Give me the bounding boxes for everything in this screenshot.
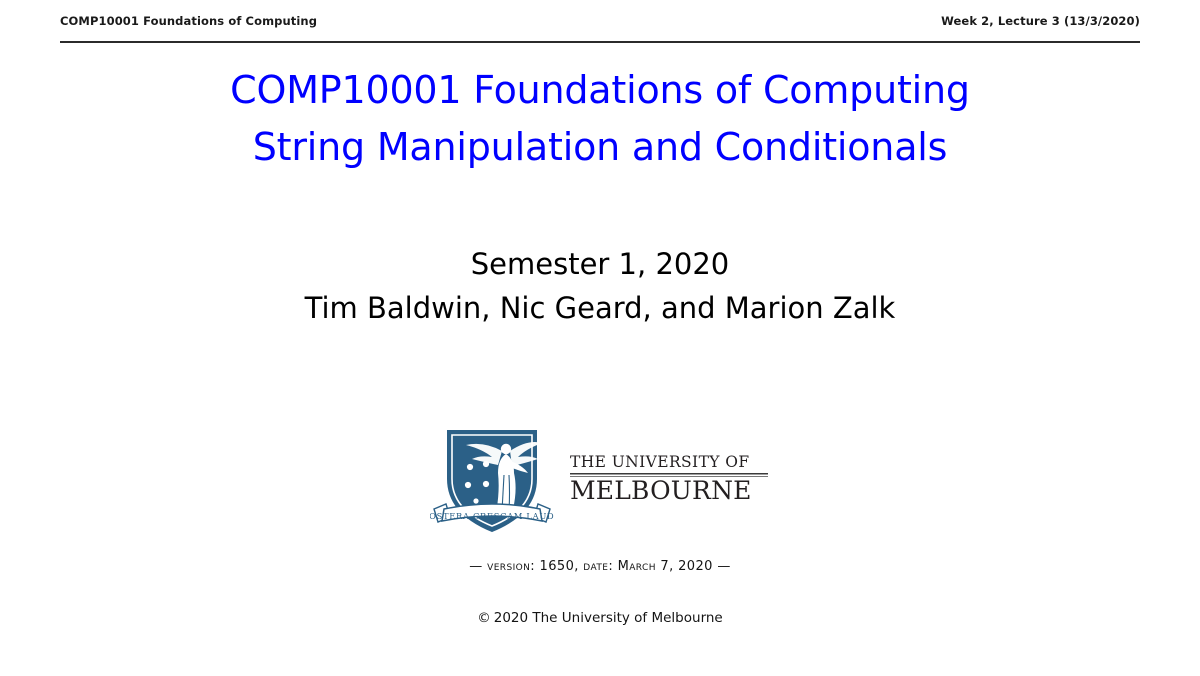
title-slide: COMP10001 Foundations of Computing Week … [0,0,1200,676]
page-title-line-1: COMP10001 Foundations of Computing [0,62,1200,119]
copyright-text: 2020 The University of Melbourne [494,610,723,626]
author-block: Semester 1, 2020 Tim Baldwin, Nic Geard,… [0,242,1200,330]
university-crest-icon: POSTERA CRESCAM LAUDE [430,421,554,539]
motto-scroll: POSTERA CRESCAM LAUDE [430,504,554,522]
wordmark-line-2: MELBOURNE [570,476,752,505]
header-lecture-info: Week 2, Lecture 3 (13/3/2020) [941,14,1140,28]
page-title-line-2: String Manipulation and Conditionals [0,119,1200,176]
header-course-title: COMP10001 Foundations of Computing [60,14,317,28]
wordmark-line-1: THE UNIVERSITY OF [570,453,750,471]
version-date-line: — version: 1650, date: March 7, 2020 — [0,559,1200,574]
copyright-icon: © [477,610,491,626]
author-names: Tim Baldwin, Nic Geard, and Marion Zalk [0,286,1200,330]
university-wordmark: THE UNIVERSITY OF MELBOURNE [570,449,770,511]
header-divider-rule [60,41,1140,43]
copyright-line: ©2020 The University of Melbourne [0,610,1200,626]
wordmark-divider-rule [570,473,768,475]
slide-header: COMP10001 Foundations of Computing Week … [60,14,1140,28]
title-block: COMP10001 Foundations of Computing Strin… [0,62,1200,176]
semester-label: Semester 1, 2020 [0,242,1200,286]
crest-motto-text: POSTERA CRESCAM LAUDE [430,511,554,521]
university-logo: POSTERA CRESCAM LAUDE THE UNIVERSITY OF … [0,421,1200,539]
